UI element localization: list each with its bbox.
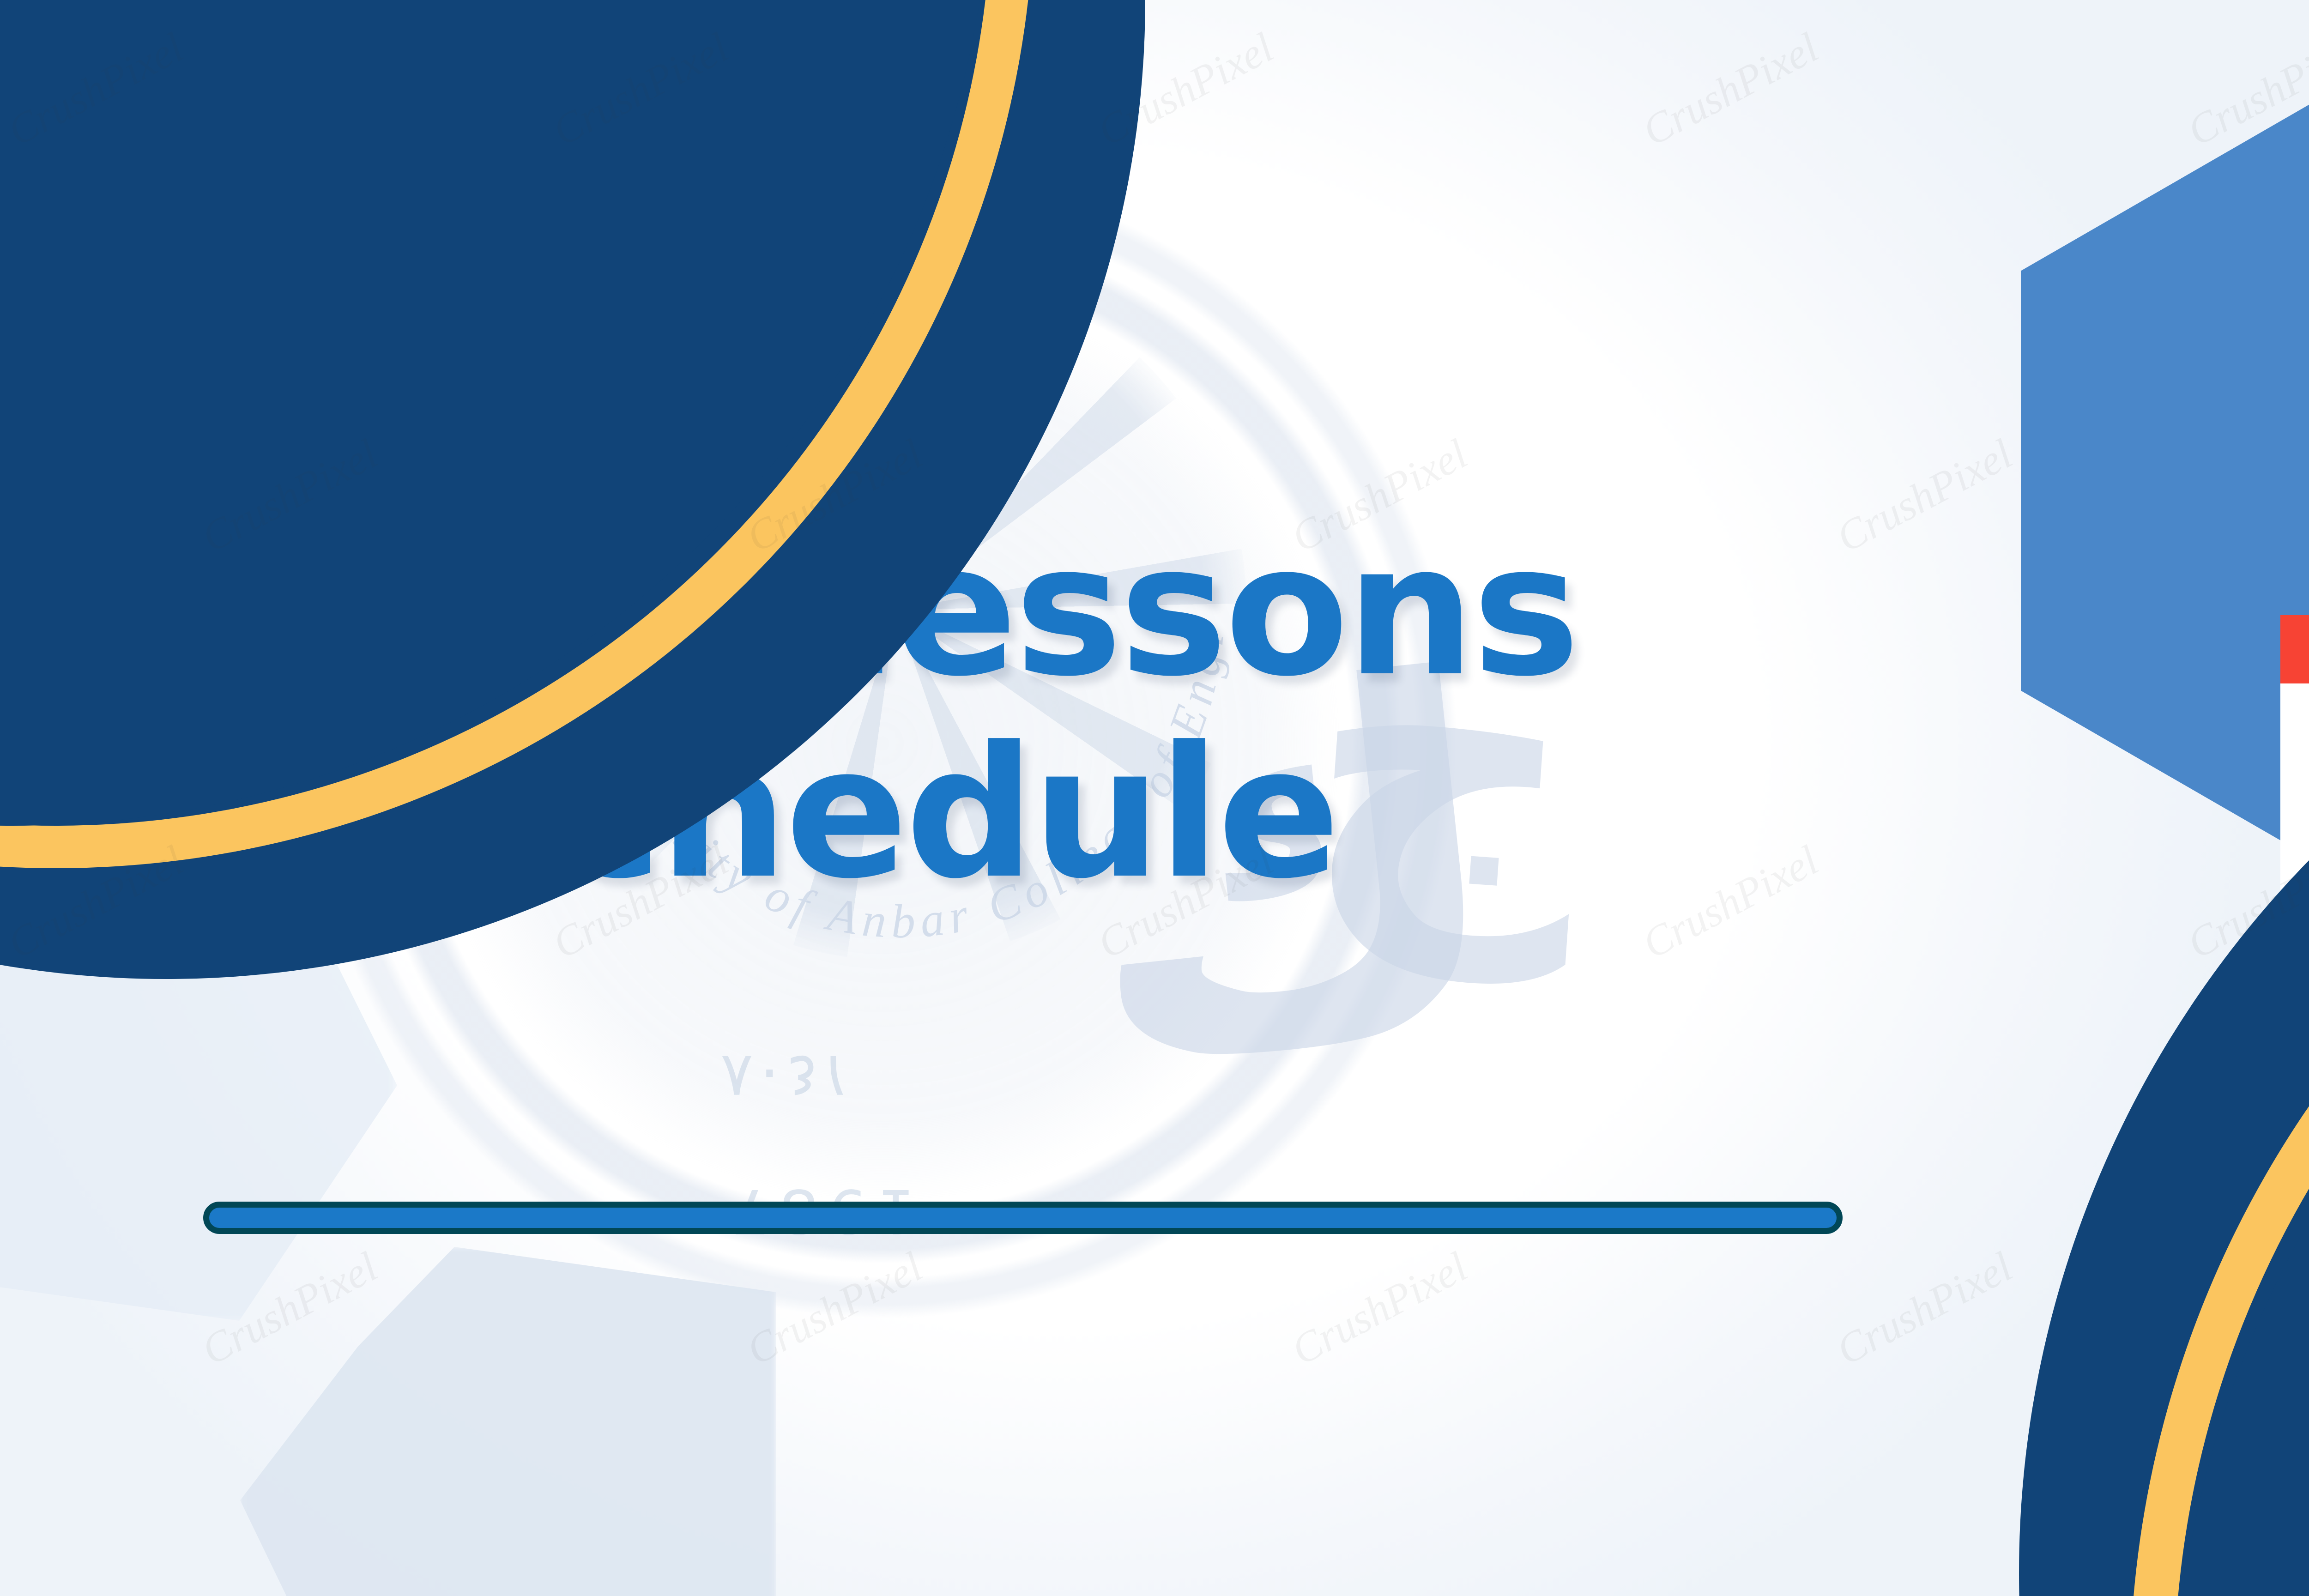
background-wash (0, 0, 2309, 1596)
title-underline-pill (203, 1202, 1843, 1234)
weekly-lessons-schedule-banner: جامعة كلية الهندسة ك ج ١٤٠٨ 1987 Univers… (0, 0, 2309, 1596)
